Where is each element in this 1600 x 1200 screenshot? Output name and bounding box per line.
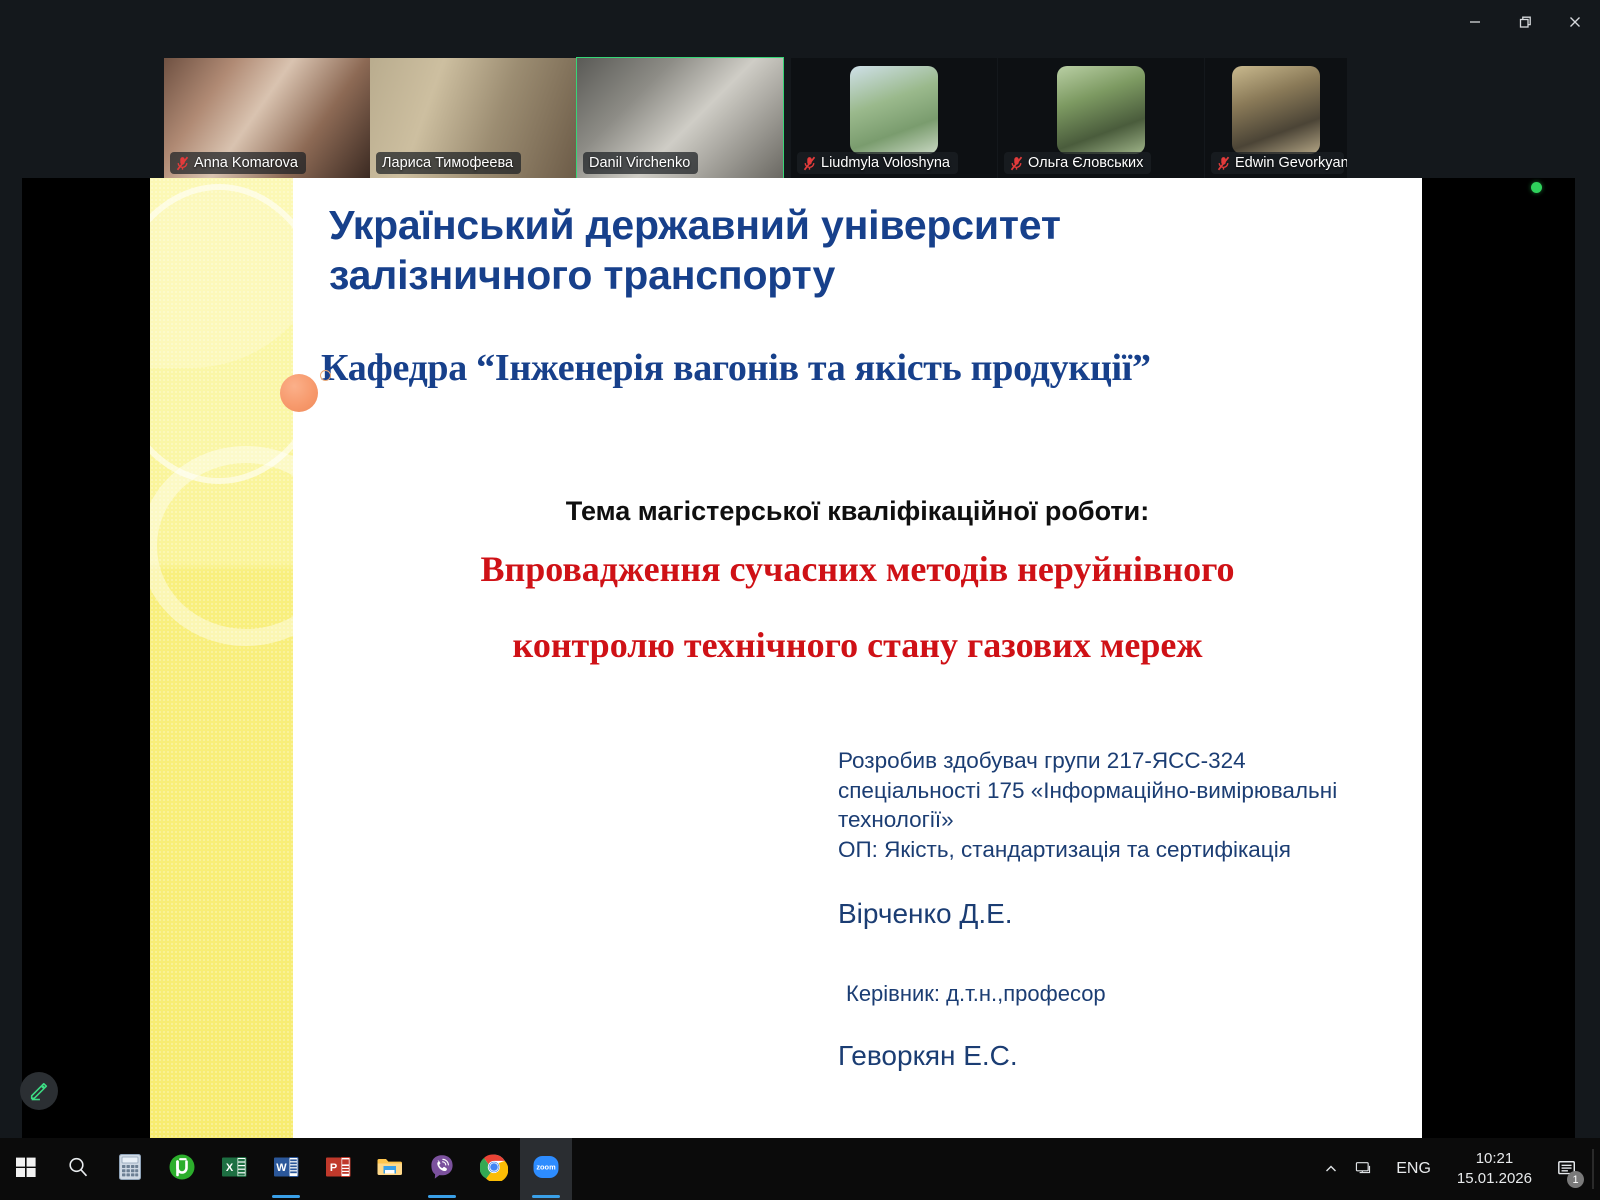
clock[interactable]: 10:21 15.01.2026 — [1445, 1138, 1544, 1200]
screen-share-indicator-icon — [1531, 182, 1542, 193]
participant-tile[interactable]: Edwin Gevorkyan — [1205, 58, 1347, 178]
excel-icon: X — [220, 1153, 248, 1186]
calculator-icon — [116, 1153, 144, 1186]
notification-count-badge: 1 — [1567, 1171, 1584, 1188]
word-icon: W — [272, 1153, 300, 1186]
taskbar-calculator-button[interactable] — [104, 1138, 156, 1200]
svg-text:X: X — [226, 1162, 234, 1174]
svg-text:P: P — [330, 1162, 337, 1174]
participant-name: Ольга Єловських — [1028, 155, 1143, 171]
file-explorer-icon — [375, 1153, 405, 1186]
thesis-title-line1: Впровадження сучасних методів неруйнівно… — [293, 548, 1422, 590]
taskbar-running-indicator — [428, 1195, 456, 1198]
participant-name-bar: Danil Virchenko — [583, 152, 698, 174]
participant-tile[interactable]: Liudmyla Voloshyna — [791, 58, 997, 178]
taskbar-divider — [1592, 1149, 1594, 1189]
participant-name-bar: Liudmyla Voloshyna — [797, 152, 958, 174]
viber-icon — [428, 1153, 456, 1186]
taskbar-file-explorer-button[interactable] — [364, 1138, 416, 1200]
avatar — [1232, 66, 1320, 154]
university-title: Український державний університет залізн… — [329, 200, 1229, 300]
annotate-button[interactable] — [20, 1072, 58, 1110]
participant-name-bar: Лариса Тимофеева — [376, 152, 521, 174]
participant-tile[interactable]: Anna Komarova — [164, 58, 370, 178]
windows-taskbar: XWPzoom ENG 10:21 15.01.2026 — [0, 1138, 1600, 1200]
taskbar-search-button[interactable] — [52, 1138, 104, 1200]
decorative-bullet-circle — [320, 370, 331, 381]
notification-center-button[interactable]: 1 — [1544, 1138, 1590, 1200]
participant-name: Лариса Тимофеева — [382, 155, 513, 171]
muted-microphone-icon — [1010, 156, 1023, 171]
participant-tile[interactable]: Danil Virchenko — [577, 58, 783, 178]
svg-text:zoom: zoom — [536, 1162, 556, 1171]
participant-tile[interactable]: Лариса Тимофеева — [370, 58, 576, 178]
show-hidden-icons-chevron-icon[interactable] — [1314, 1138, 1348, 1200]
clock-time: 10:21 — [1476, 1149, 1514, 1169]
shared-screen-region: Український державний університет залізн… — [22, 178, 1575, 1138]
window-title-bar — [0, 0, 1600, 44]
participant-name-bar: Anna Komarova — [170, 152, 306, 174]
muted-microphone-icon — [803, 156, 816, 171]
avatar — [850, 66, 938, 154]
participant-filmstrip: Anna KomarovaЛариса ТимофееваDanil Virch… — [164, 58, 1347, 178]
search-icon — [66, 1155, 90, 1184]
participant-name: Edwin Gevorkyan — [1235, 155, 1347, 171]
participant-tile[interactable]: Ольга Єловських — [998, 58, 1204, 178]
slide-content: Український державний університет залізн… — [293, 178, 1422, 1138]
author-info-line2: спеціальності 175 «Інформаційно-вимірюва… — [838, 776, 1398, 806]
window-controls — [1450, 0, 1600, 44]
network-icon[interactable] — [1348, 1138, 1382, 1200]
pencil-icon — [28, 1080, 50, 1102]
author-name: Вірченко Д.Е. — [838, 898, 1013, 930]
taskbar-app-list: XWPzoom — [0, 1138, 572, 1200]
muted-microphone-icon — [1217, 156, 1230, 171]
university-title-line1: Український державний університет — [329, 200, 1229, 250]
participant-name: Danil Virchenko — [589, 155, 690, 171]
taskbar-viber-button[interactable] — [416, 1138, 468, 1200]
minimize-button[interactable] — [1450, 0, 1500, 44]
participant-name: Anna Komarova — [194, 155, 298, 171]
utorrent-icon — [168, 1153, 196, 1186]
author-info-line3: технології» — [838, 805, 1398, 835]
avatar — [1057, 66, 1145, 154]
chrome-icon — [480, 1153, 508, 1186]
taskbar-running-indicator — [532, 1195, 560, 1198]
university-title-line2: залізничного транспорту — [329, 250, 1229, 300]
taskbar-word-button[interactable]: W — [260, 1138, 312, 1200]
close-button[interactable] — [1550, 0, 1600, 44]
taskbar-running-indicator — [272, 1195, 300, 1198]
desktop-root: Anna KomarovaЛариса ТимофееваDanil Virch… — [0, 0, 1600, 1200]
language-indicator[interactable]: ENG — [1382, 1138, 1445, 1200]
clock-date: 15.01.2026 — [1457, 1169, 1532, 1189]
participant-name: Liudmyla Voloshyna — [821, 155, 950, 171]
taskbar-zoom-button[interactable]: zoom — [520, 1138, 572, 1200]
presentation-slide: Український державний університет залізн… — [150, 178, 1422, 1138]
supervisor-role: Керівник: д.т.н.,професор — [846, 981, 1106, 1007]
powerpoint-icon: P — [324, 1153, 352, 1186]
slide-decorative-band — [150, 178, 293, 1138]
decorative-orange-dot — [280, 374, 318, 412]
taskbar-utorrent-button[interactable] — [156, 1138, 208, 1200]
author-info-line1: Розробив здобувач групи 217-ЯСС-324 — [838, 746, 1398, 776]
windows-start-icon — [14, 1155, 38, 1184]
participant-name-bar: Ольга Єловських — [1004, 152, 1151, 174]
zoom-icon: zoom — [531, 1152, 561, 1187]
author-info-line4: ОП: Якість, стандартизація та сертифікац… — [838, 835, 1398, 865]
system-tray: ENG 10:21 15.01.2026 1 — [1314, 1138, 1600, 1200]
author-info-block: Розробив здобувач групи 217-ЯСС-324 спец… — [838, 746, 1398, 865]
taskbar-powerpoint-button[interactable]: P — [312, 1138, 364, 1200]
muted-microphone-icon — [176, 156, 189, 171]
taskbar-chrome-button[interactable] — [468, 1138, 520, 1200]
department-title: Кафедра “Інженерія вагонів та якість про… — [321, 346, 1421, 390]
taskbar-windows-start-button[interactable] — [0, 1138, 52, 1200]
svg-text:W: W — [276, 1162, 287, 1174]
supervisor-name: Геворкян Е.С. — [838, 1040, 1018, 1072]
thesis-title-line2: контролю технічного стану газових мереж — [293, 624, 1422, 666]
taskbar-excel-button[interactable]: X — [208, 1138, 260, 1200]
participant-name-bar: Edwin Gevorkyan — [1211, 152, 1344, 174]
restore-button[interactable] — [1500, 0, 1550, 44]
thesis-label: Тема магістерської кваліфікаційної робот… — [293, 496, 1422, 527]
